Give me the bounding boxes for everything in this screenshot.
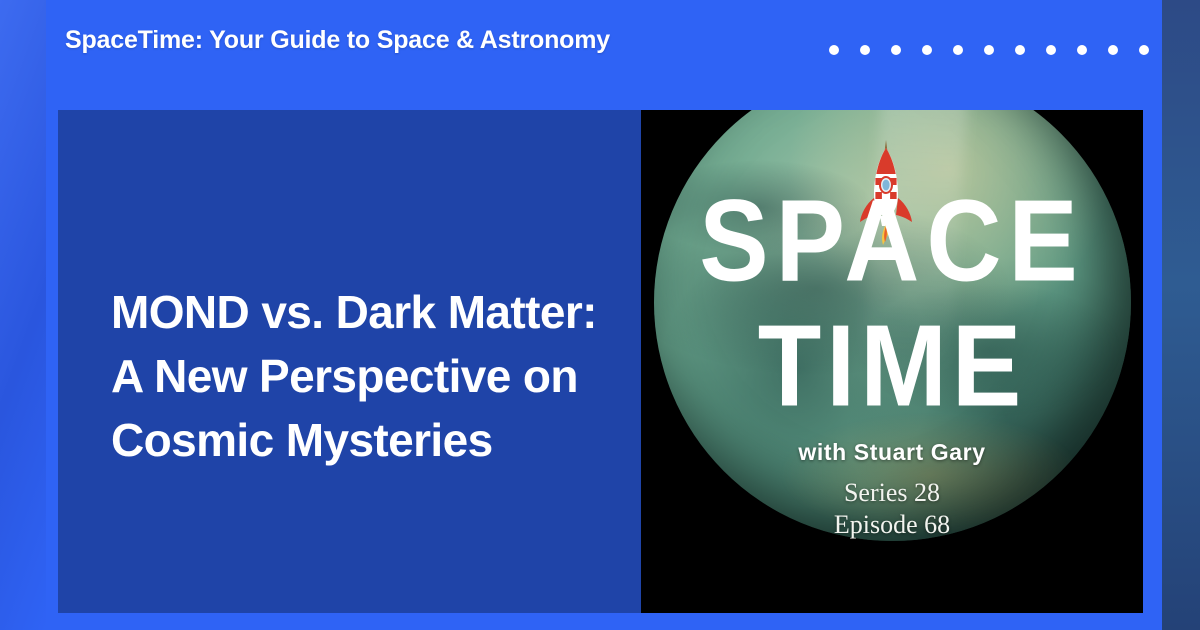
- banner-header: SpaceTime: Your Guide to Space & Astrono…: [46, 0, 1162, 88]
- artwork-series-label: Series 28: [641, 478, 1143, 508]
- decorative-dot: [860, 45, 870, 55]
- artwork-host-credit: with Stuart Gary: [641, 439, 1143, 466]
- decorative-dot: [1046, 45, 1056, 55]
- podcast-show-title: SpaceTime: Your Guide to Space & Astrono…: [65, 26, 610, 55]
- promo-banner: SpaceTime: Your Guide to Space & Astrono…: [0, 0, 1200, 630]
- dot-decoration-row: [829, 45, 1149, 55]
- artwork-brand-space: SPACE: [641, 183, 1143, 299]
- artwork-brand-time: TIME: [641, 308, 1143, 424]
- episode-text-panel: MOND vs. Dark Matter: A New Perspective …: [58, 110, 641, 613]
- right-edge-strip: [1162, 0, 1200, 630]
- episode-card: MOND vs. Dark Matter: A New Perspective …: [58, 110, 1143, 613]
- podcast-cover-art: SPACE TIME with Stuart Gary Series 28 Ep…: [641, 110, 1143, 613]
- decorative-dot: [1108, 45, 1118, 55]
- decorative-dot: [984, 45, 994, 55]
- episode-title: MOND vs. Dark Matter: A New Perspective …: [111, 280, 611, 472]
- decorative-dot: [953, 45, 963, 55]
- decorative-dot: [922, 45, 932, 55]
- artwork-episode-label: Episode 68: [641, 510, 1143, 540]
- decorative-dot: [891, 45, 901, 55]
- decorative-dot: [829, 45, 839, 55]
- decorative-dot: [1015, 45, 1025, 55]
- decorative-dot: [1139, 45, 1149, 55]
- left-edge-strip: [0, 0, 46, 630]
- decorative-dot: [1077, 45, 1087, 55]
